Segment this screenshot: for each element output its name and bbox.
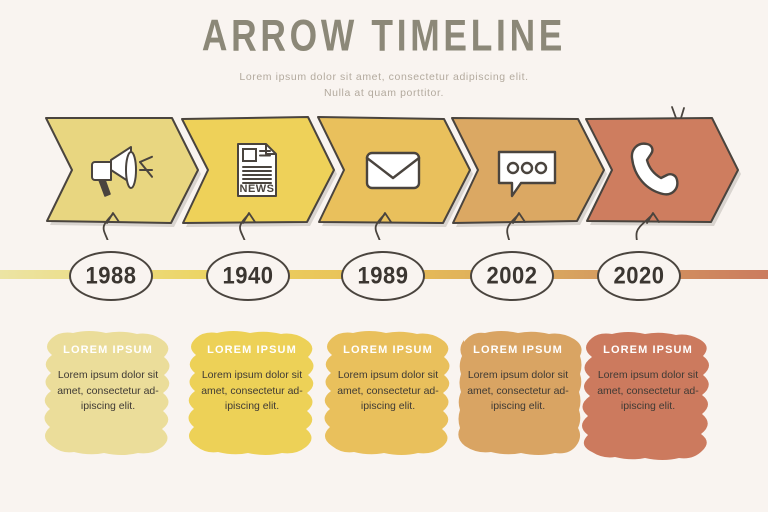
arrow-banner[interactable] — [46, 118, 201, 227]
year-label: 1940 — [223, 262, 274, 291]
year-label: 2020 — [614, 262, 665, 291]
page-header: ARROW TIMELINE Lorem ipsum dolor sit ame… — [0, 14, 768, 101]
sketch-spark-marks — [672, 107, 684, 118]
card-body: Lorem ipsum dolor sit amet, consectetur … — [586, 368, 710, 415]
arrow-banners-svg: NEWS — [0, 104, 768, 240]
arrow-banner[interactable] — [318, 117, 473, 227]
page-subtitle: Lorem ipsum dolor sit amet, consectetur … — [0, 69, 768, 102]
content-card[interactable]: LOREM IPSUM Lorem ipsum dolor sit amet, … — [448, 318, 588, 480]
year-badge[interactable]: 1989 — [341, 251, 425, 301]
year-label: 1988 — [86, 262, 137, 291]
content-card[interactable]: LOREM IPSUM Lorem ipsum dolor sit amet, … — [182, 318, 322, 480]
content-card[interactable]: LOREM IPSUM Lorem ipsum dolor sit amet, … — [318, 318, 458, 480]
arrow-banner[interactable] — [586, 118, 741, 226]
card-content: LOREM IPSUM Lorem ipsum dolor sit amet, … — [456, 344, 580, 415]
card-heading: LOREM IPSUM — [46, 344, 170, 356]
card-body: Lorem ipsum dolor sit amet, consectetur … — [456, 368, 580, 415]
card-heading: LOREM IPSUM — [326, 344, 450, 356]
year-badge-row: 1988 1940 1989 2002 2020 — [0, 246, 768, 306]
arrow-banner[interactable] — [452, 118, 607, 227]
card-body: Lorem ipsum dolor sit amet, consectetur … — [190, 368, 314, 415]
svg-text:NEWS: NEWS — [240, 183, 275, 195]
card-body: Lorem ipsum dolor sit amet, consectetur … — [46, 368, 170, 415]
year-badge[interactable]: 1988 — [69, 251, 153, 301]
card-content: LOREM IPSUM Lorem ipsum dolor sit amet, … — [190, 344, 314, 415]
year-badge[interactable]: 2002 — [470, 251, 554, 301]
card-heading: LOREM IPSUM — [190, 344, 314, 356]
card-content: LOREM IPSUM Lorem ipsum dolor sit amet, … — [46, 344, 170, 415]
year-badge[interactable]: 1940 — [206, 251, 290, 301]
news-document-icon: NEWS — [238, 144, 276, 196]
content-card-row: LOREM IPSUM Lorem ipsum dolor sit amet, … — [0, 312, 768, 480]
card-content: LOREM IPSUM Lorem ipsum dolor sit amet, … — [586, 344, 710, 415]
year-label: 2002 — [487, 262, 538, 291]
content-card[interactable]: LOREM IPSUM Lorem ipsum dolor sit amet, … — [578, 318, 718, 480]
card-body: Lorem ipsum dolor sit amet, consectetur … — [326, 368, 450, 415]
subtitle-line-2: Nulla at quam porttitor. — [0, 85, 768, 101]
arrow-banner[interactable]: NEWS — [182, 117, 337, 227]
card-heading: LOREM IPSUM — [456, 344, 580, 356]
card-heading: LOREM IPSUM — [586, 344, 710, 356]
subtitle-line-1: Lorem ipsum dolor sit amet, consectetur … — [0, 69, 768, 85]
page-title: ARROW TIMELINE — [27, 14, 741, 60]
year-label: 1989 — [358, 262, 409, 291]
card-content: LOREM IPSUM Lorem ipsum dolor sit amet, … — [326, 344, 450, 415]
content-card[interactable]: LOREM IPSUM Lorem ipsum dolor sit amet, … — [38, 318, 178, 480]
envelope-icon — [367, 153, 419, 188]
year-badge[interactable]: 2020 — [597, 251, 681, 301]
arrow-banner-band: NEWS — [0, 104, 768, 240]
